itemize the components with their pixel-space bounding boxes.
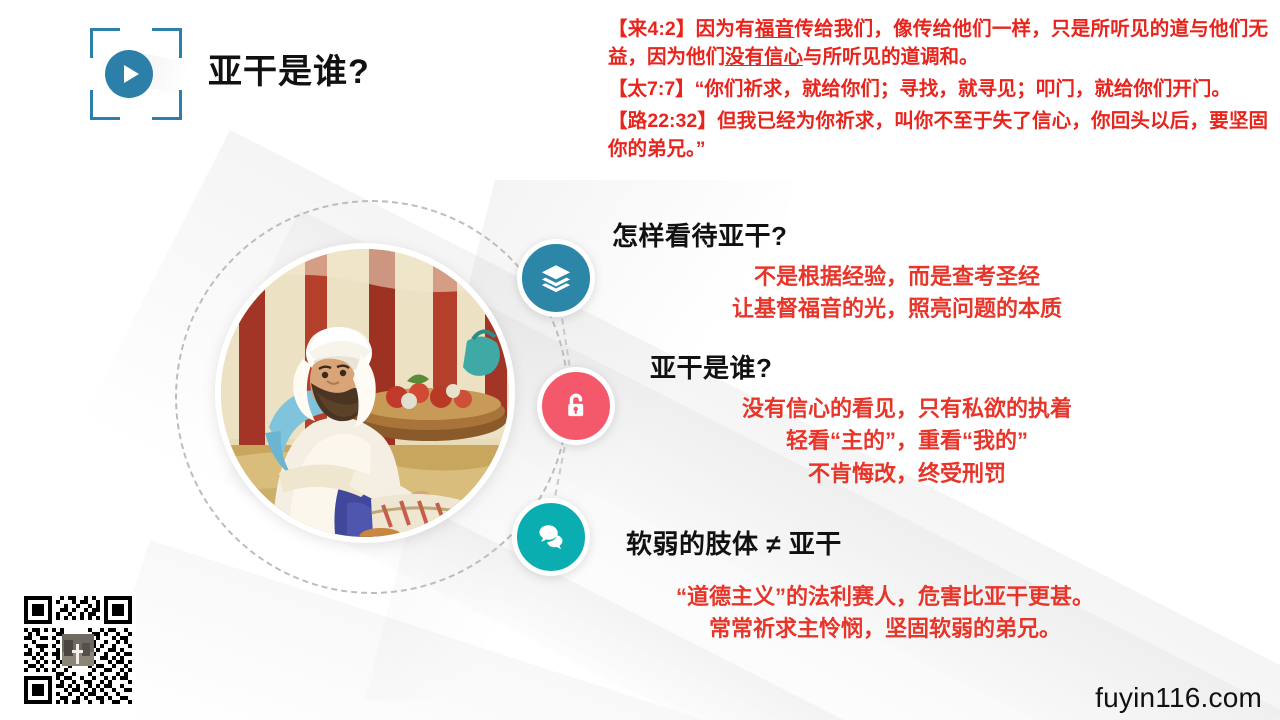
verse1-underline-gospel: 福音	[755, 18, 795, 40]
section-line: 让基督福音的光，照亮问题的本质	[732, 293, 1062, 325]
verse1-underline-nofaith: 没有信心	[725, 46, 803, 68]
section-heading: 软弱的肢体 ≠ 亚干	[626, 524, 1094, 561]
section-how-to-view: 怎样看待亚干? 不是根据经验，而是查考圣经 让基督福音的光，照亮问题的本质	[612, 216, 1062, 326]
section-line: 常常祈求主怜悯，坚固软弱的弟兄。	[676, 613, 1094, 645]
scripture-verse-hebrews: 【来4:2】因为有福音传给我们，像传给他们一样，只是所听见的道与他们无益，因为他…	[608, 16, 1268, 72]
logo	[90, 28, 182, 120]
verse1-part-a: 【来4:2】因为有	[608, 18, 755, 40]
photo-frame	[215, 243, 515, 543]
section-weak-members: 软弱的肢体 ≠ 亚干 “道德主义”的法利赛人，危害比亚干更甚。 常常祈求主怜悯，…	[626, 524, 1094, 646]
speech-bubbles-icon[interactable]	[512, 498, 590, 576]
verse1-part-b: 传给我们，像传给他们一样，只是所	[794, 18, 1110, 40]
qr-center-logo	[62, 634, 94, 666]
achan-illustration	[221, 249, 509, 537]
scripture-verse-luke: 【路22:32】但我已经为你祈求，叫你不至于失了信心，你回头以后，要坚固你的弟兄…	[608, 108, 1268, 164]
section-line: 没有信心的看见，只有私欲的执着	[742, 393, 1072, 425]
verse1-part-d: 与所听见的道调和。	[803, 46, 979, 68]
section-heading: 亚干是谁?	[650, 348, 1072, 385]
section-lines: “道德主义”的法利赛人，危害比亚干更甚。 常常祈求主怜悯，坚固软弱的弟兄。	[626, 581, 1094, 646]
section-lines: 没有信心的看见，只有私欲的执着 轻看“主的”，重看“我的” 不肯悔改，终受刑罚	[650, 393, 1072, 490]
section-who-is-achan: 亚干是谁? 没有信心的看见，只有私欲的执着 轻看“主的”，重看“我的” 不肯悔改…	[650, 348, 1072, 490]
page-title: 亚干是谁?	[208, 44, 370, 93]
scripture-block: 【来4:2】因为有福音传给我们，像传给他们一样，只是所听见的道与他们无益，因为他…	[608, 16, 1268, 167]
section-lines: 不是根据经验，而是查考圣经 让基督福音的光，照亮问题的本质	[612, 261, 1062, 326]
play-button-icon	[105, 50, 153, 98]
section-line: “道德主义”的法利赛人，危害比亚干更甚。	[676, 581, 1094, 613]
layers-icon[interactable]	[517, 239, 595, 317]
section-heading: 怎样看待亚干?	[612, 216, 1062, 253]
slide-canvas: 亚干是谁? 【来4:2】因为有福音传给我们，像传给他们一样，只是所听见的道与他们…	[0, 0, 1280, 720]
scripture-verse-matthew: 【太7:7】“你们祈求，就给你们；寻找，就寻见；叩门，就给你们开门。	[608, 76, 1268, 104]
section-line: 轻看“主的”，重看“我的”	[742, 425, 1072, 457]
site-watermark: fuyin116.com	[1095, 682, 1262, 714]
unlocked-padlock-icon[interactable]	[537, 367, 615, 445]
section-line: 不是根据经验，而是查考圣经	[732, 261, 1062, 293]
qr-code	[20, 592, 136, 708]
section-line: 不肯悔改，终受刑罚	[742, 458, 1072, 490]
